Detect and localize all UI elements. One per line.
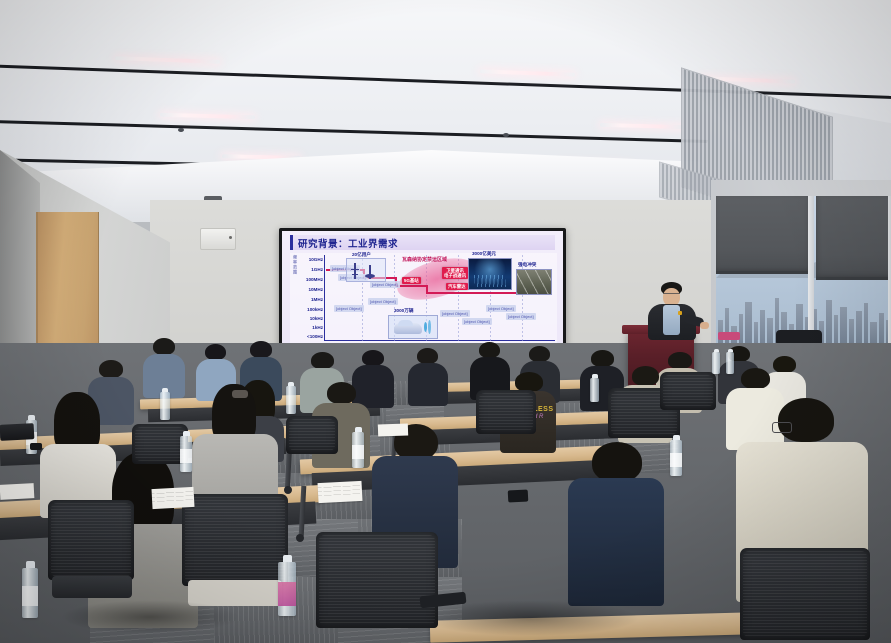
ceiling-light (480, 69, 575, 76)
handout-paper[interactable] (318, 481, 363, 503)
category-chip: [object Object] (440, 310, 470, 317)
slide-chart: 10GHz 1GHz 100MHz 10MHz 1MHz 100kHz 10kH… (290, 253, 557, 345)
window-blind[interactable] (716, 196, 810, 274)
handout-paper[interactable] (378, 423, 408, 436)
y-tick: 10kHz (310, 316, 323, 321)
caption-market: 3000亿美元 (472, 251, 496, 257)
ceiling-light (115, 56, 220, 64)
downlight (503, 133, 509, 137)
chair[interactable] (476, 390, 536, 444)
ceiling-light (160, 113, 255, 120)
chair[interactable] (182, 494, 288, 612)
water-bottle[interactable] (726, 352, 734, 374)
highlight-chip-satellite: 卫星通讯 电子战通讯 (442, 267, 468, 279)
water-bottle[interactable] (352, 432, 364, 468)
caption-power: 强电冲突 (518, 262, 536, 268)
table-caster (296, 534, 304, 542)
attendee (568, 442, 664, 602)
category-chip: [object Object] (462, 318, 492, 325)
category-chip: [object Object] (334, 305, 364, 312)
chair[interactable] (286, 416, 338, 462)
y-tick: <100Hz (307, 334, 323, 339)
hair-clip (232, 390, 248, 398)
presenter-shirt (663, 305, 680, 335)
slide-title-bar: 研究背景：工业界需求 (290, 235, 555, 250)
handout-paper[interactable] (152, 487, 195, 509)
category-chip: [object Object] (370, 281, 400, 288)
tower-illustration (346, 258, 386, 282)
y-tick: 100kHz (307, 307, 323, 312)
laptop[interactable] (0, 423, 34, 441)
water-bottle[interactable] (590, 378, 599, 402)
highlight-chip-5g: 5G基站 (402, 277, 421, 284)
conference-room-scene: 研究背景：工业界需求 频率范围 10GHz 1GHz 100MHz 10MHz … (0, 0, 891, 643)
y-tick: 1MHz (311, 297, 323, 302)
car-illustration (388, 315, 438, 339)
handout-paper[interactable] (0, 483, 34, 500)
attendee (196, 384, 276, 510)
x-axis (324, 340, 555, 341)
lapel-badge (678, 311, 682, 315)
water-bottle[interactable] (22, 568, 38, 618)
glasses-icon (663, 293, 680, 297)
category-chip: [object Object] (368, 298, 398, 305)
y-tick: 1GHz (311, 267, 323, 272)
y-tick: 1kHz (312, 325, 323, 330)
window-mullion (808, 196, 814, 348)
trend-line (395, 285, 427, 287)
y-tick: 100MHz (306, 277, 323, 282)
ceiling-light (600, 123, 685, 129)
water-bottle[interactable] (278, 562, 296, 616)
y-tick: 10MHz (308, 287, 323, 292)
slide-title: 研究背景：工业界需求 (293, 236, 398, 250)
category-chip: [object Object] (486, 305, 516, 312)
category-chip: [object Object] (506, 313, 536, 320)
highlight-chip-radar: 汽车雷达 (446, 283, 468, 290)
water-bottle[interactable] (670, 440, 682, 476)
glasses-icon (772, 422, 792, 433)
embargo-region-label: 瓦森纳协定禁运区域 (402, 256, 447, 263)
window-blind[interactable] (816, 196, 891, 280)
wall-speaker (200, 228, 236, 250)
table-caster (284, 486, 292, 494)
chair[interactable] (740, 548, 870, 643)
y-tick: 10GHz (309, 257, 323, 262)
presenter-hand (700, 322, 709, 329)
water-bottle[interactable] (286, 386, 296, 414)
pink-item-on-sill (718, 332, 740, 340)
chair[interactable] (660, 372, 716, 420)
water-bottle[interactable] (180, 436, 192, 472)
satellite-photo (468, 258, 512, 290)
attendee (408, 348, 448, 404)
caption-vehicles: 3000万辆 (394, 308, 413, 314)
water-bottle[interactable] (160, 392, 170, 420)
smartphone[interactable] (30, 443, 42, 450)
chair[interactable] (48, 500, 134, 604)
smartphone[interactable] (508, 489, 529, 502)
powerline-photo (516, 269, 552, 295)
presenter (640, 283, 704, 339)
downlight (178, 128, 184, 132)
water-bottle[interactable] (712, 352, 720, 374)
y-axis (324, 255, 325, 341)
